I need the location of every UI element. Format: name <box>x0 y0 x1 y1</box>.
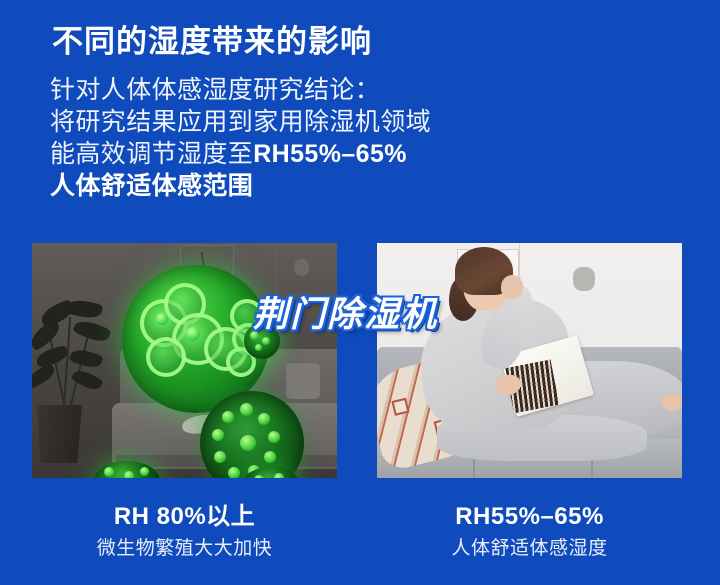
page-title: 不同的湿度带来的影响 <box>52 16 372 61</box>
intro-line-4: 人体舒适体感范围 <box>50 170 570 202</box>
intro-line-3: 能高效调节湿度至RH55%–65% <box>50 138 570 170</box>
watermark-text: 荆门除湿机 <box>253 286 438 337</box>
caption-left-title: RH 80%以上 <box>32 502 337 532</box>
intro-line-3-normal: 能高效调节湿度至 <box>50 140 253 168</box>
left-scene <box>32 243 337 478</box>
intro-line-1: 针对人体体感湿度研究结论： <box>50 74 570 106</box>
intro-line-2: 将研究结果应用到家用除湿机领域 <box>50 106 570 138</box>
potted-plant-icon <box>32 299 118 411</box>
plant-pot <box>34 405 82 463</box>
wall-speaker-icon <box>573 267 595 291</box>
photo-right-comfort-room <box>377 243 682 478</box>
intro-line-3-emphasis: RH55%–65% <box>253 140 407 168</box>
caption-right-title: RH55%–65% <box>377 502 682 532</box>
caption-left-subtitle: 微生物繁殖大大加快 <box>32 536 337 562</box>
woman-hand-on-forehead <box>501 275 523 299</box>
left-sofa-cushion <box>286 363 320 399</box>
caption-right: RH55%–65% 人体舒适体感湿度 <box>377 502 682 562</box>
woman-foot <box>661 393 682 411</box>
right-scene <box>377 243 682 478</box>
photo-left-humid-room <box>32 243 337 478</box>
caption-left: RH 80%以上 微生物繁殖大大加快 <box>32 502 337 562</box>
poster-canvas: 不同的湿度带来的影响 针对人体体感湿度研究结论： 将研究结果应用到家用除湿机领域… <box>0 0 720 585</box>
caption-right-subtitle: 人体舒适体感湿度 <box>377 536 682 562</box>
intro-paragraph: 针对人体体感湿度研究结论： 将研究结果应用到家用除湿机领域 能高效调节湿度至RH… <box>50 74 570 202</box>
wall-knob-icon <box>294 259 309 276</box>
